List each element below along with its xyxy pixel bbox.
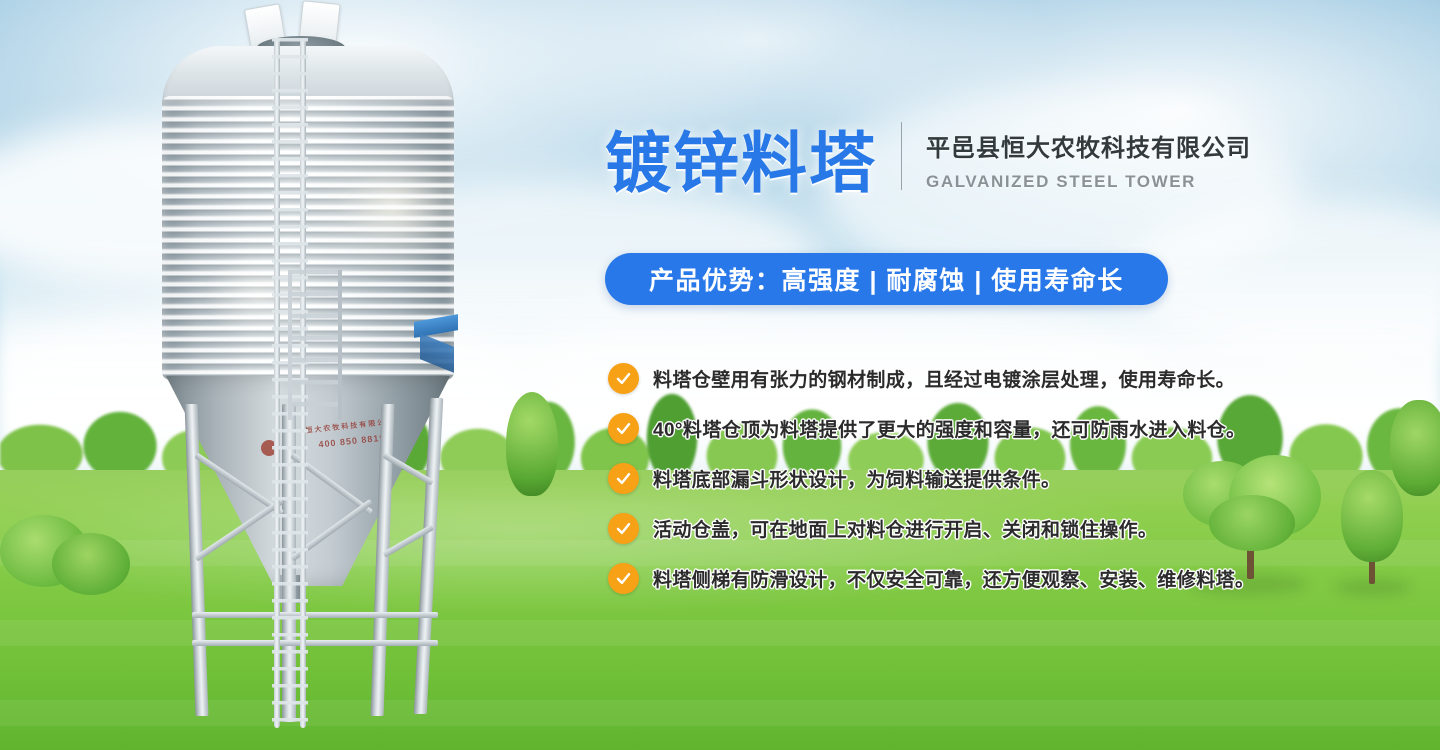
feature-text: 料塔仓壁用有张力的钢材制成，且经过电镀涂层处理，使用寿命长。 — [653, 365, 1235, 392]
check-icon — [608, 563, 639, 594]
company-name: 平邑县恒大农牧科技有限公司 — [926, 134, 1251, 164]
tree-canopy — [1390, 400, 1440, 496]
check-icon — [608, 513, 639, 544]
feature-item: 活动仓盖，可在地面上对料仓进行开启、关闭和锁住操作。 — [608, 512, 1298, 544]
feature-item: 料塔侧梯有防滑设计，不仅安全可靠，还方便观察、安装、维修料塔。 — [608, 562, 1298, 594]
ladder-cage — [288, 270, 342, 420]
feature-text: 料塔侧梯有防滑设计，不仅安全可靠，还方便观察、安装、维修料塔。 — [653, 565, 1254, 592]
headline-row: 镀锌料塔 平邑县恒大农牧科技有限公司 GALVANIZED STEEL TOWE… — [605, 122, 1251, 196]
check-icon — [608, 363, 639, 394]
silo-leg — [414, 398, 444, 714]
feature-item: 料塔底部漏斗形状设计，为饲料输送提供条件。 — [608, 462, 1298, 494]
silo-cross-bar — [192, 640, 438, 646]
feature-text: 活动仓盖，可在地面上对料仓进行开启、关闭和锁住操作。 — [653, 515, 1157, 542]
feature-list: 料塔仓壁用有张力的钢材制成，且经过电镀涂层处理，使用寿命长。 40°料塔仓顶为料… — [608, 362, 1298, 612]
check-icon — [608, 413, 639, 444]
hero-banner: 恒大农牧科技有限公司 400 850 8819 镀锌料塔 平邑县恒大农牧科技有 — [0, 0, 1440, 750]
feature-item: 40°料塔仓顶为料塔提供了更大的强度和容量，还可防雨水进入料仓。 — [608, 412, 1298, 444]
product-advantage-banner: 产品优势：高强度 | 耐腐蚀 | 使用寿命长 — [605, 253, 1168, 305]
product-photo-silo: 恒大农牧科技有限公司 400 850 8819 — [96, 0, 516, 750]
title-divider — [901, 122, 902, 190]
lawn-tree — [1390, 400, 1440, 510]
feature-text: 料塔底部漏斗形状设计，为饲料输送提供条件。 — [653, 465, 1060, 492]
page-title: 镀锌料塔 — [605, 130, 877, 196]
silo-cross-bar — [192, 612, 438, 618]
company-block: 平邑县恒大农牧科技有限公司 GALVANIZED STEEL TOWER — [926, 134, 1251, 196]
check-icon — [608, 463, 639, 494]
product-advantage-text: 产品优势：高强度 | 耐腐蚀 | 使用寿命长 — [649, 261, 1124, 297]
company-name-english: GALVANIZED STEEL TOWER — [926, 172, 1251, 192]
feature-item: 料塔仓壁用有张力的钢材制成，且经过电镀涂层处理，使用寿命长。 — [608, 362, 1298, 394]
feature-text: 40°料塔仓顶为料塔提供了更大的强度和容量，还可防雨水进入料仓。 — [653, 415, 1246, 442]
